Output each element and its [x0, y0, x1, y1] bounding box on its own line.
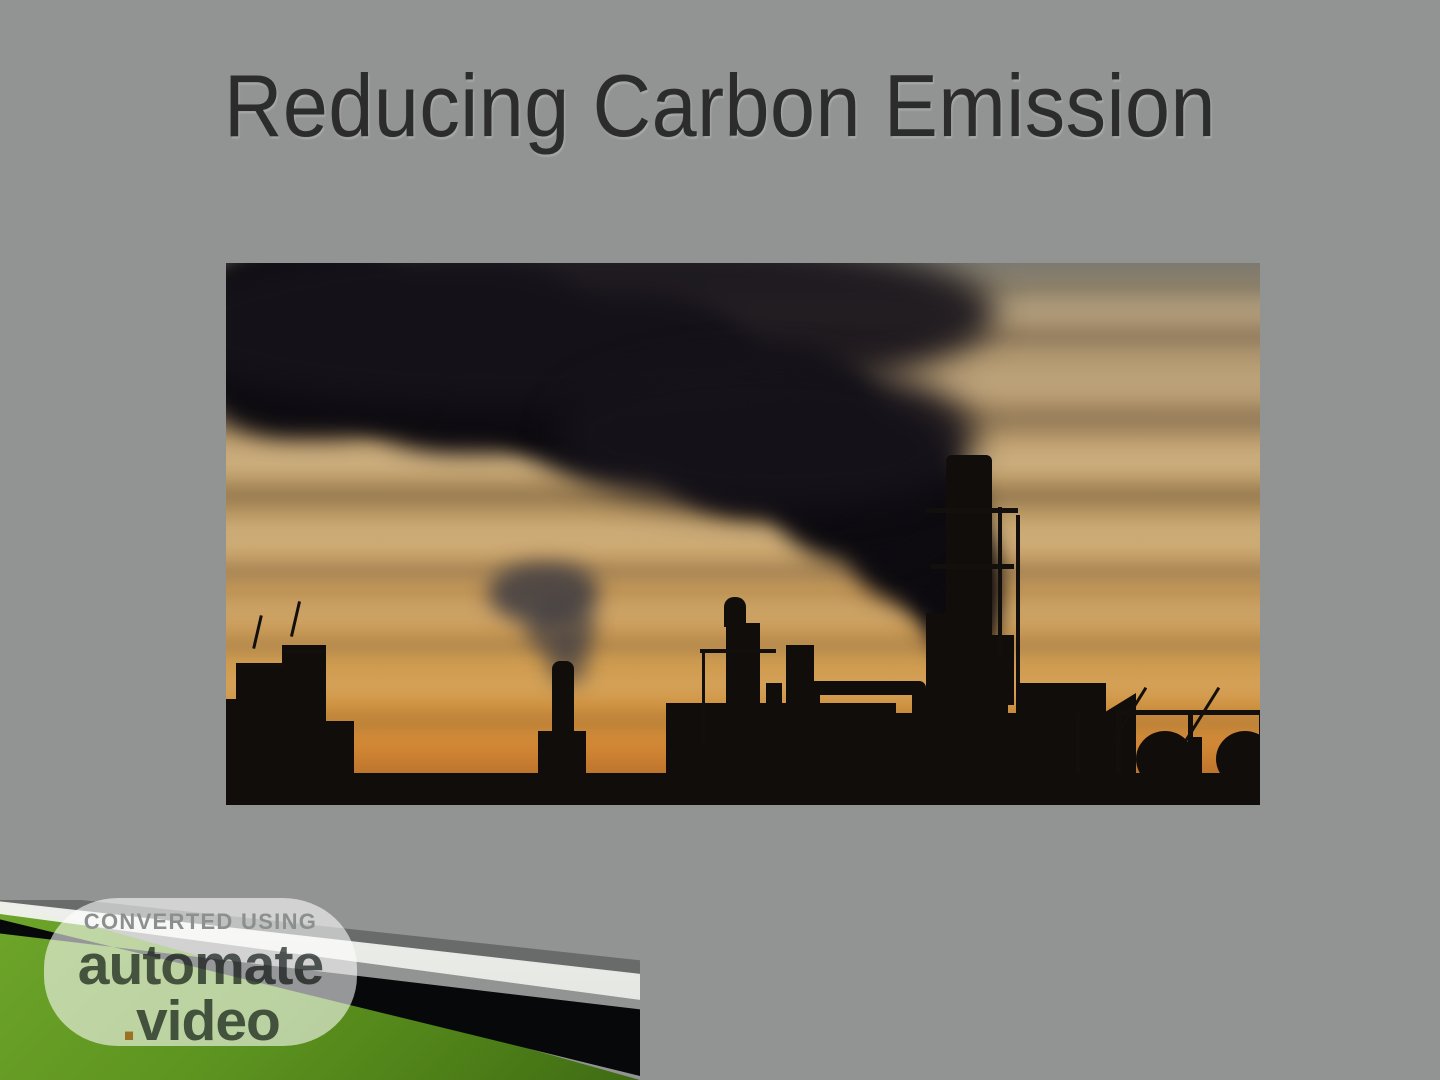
- lamppost-pole: [1076, 705, 1080, 773]
- presentation-slide: Reducing Carbon Emission: [0, 0, 1440, 1080]
- watermark-brand-video-text: video: [136, 989, 280, 1053]
- watermark-caption: CONVERTED USING: [84, 911, 317, 933]
- platform: [926, 508, 1018, 513]
- slide-image: [226, 263, 1260, 805]
- watermark-brand-video: .video: [121, 994, 280, 1049]
- railing: [282, 650, 326, 653]
- plant-tower: [726, 623, 760, 773]
- pipe-vertical: [806, 689, 820, 773]
- railing: [238, 664, 284, 667]
- plant-tower-head: [724, 597, 746, 627]
- cloud-band: [226, 561, 1260, 581]
- building-silhouette: [226, 721, 354, 773]
- ladder: [1016, 515, 1020, 685]
- ladder: [702, 651, 705, 743]
- ground-silhouette: [226, 773, 1260, 805]
- watermark-badge: CONVERTED USING automate .video: [44, 898, 357, 1046]
- storage-tank: [1136, 731, 1194, 787]
- watermark-brand-automate: automate: [78, 938, 323, 993]
- pipe-arch: [806, 681, 926, 695]
- gantry-post: [1116, 713, 1121, 773]
- ladder: [998, 507, 1002, 655]
- cloud-band: [226, 523, 1260, 551]
- smokestack-main: [946, 455, 992, 655]
- pipe-curve: [766, 683, 782, 757]
- stack-base: [538, 731, 586, 773]
- page-title: Reducing Carbon Emission: [58, 62, 1383, 150]
- tank-stack: [1188, 737, 1202, 773]
- railing: [700, 649, 776, 653]
- lamppost-head: [1066, 703, 1090, 713]
- watermark-dot: .: [121, 989, 136, 1053]
